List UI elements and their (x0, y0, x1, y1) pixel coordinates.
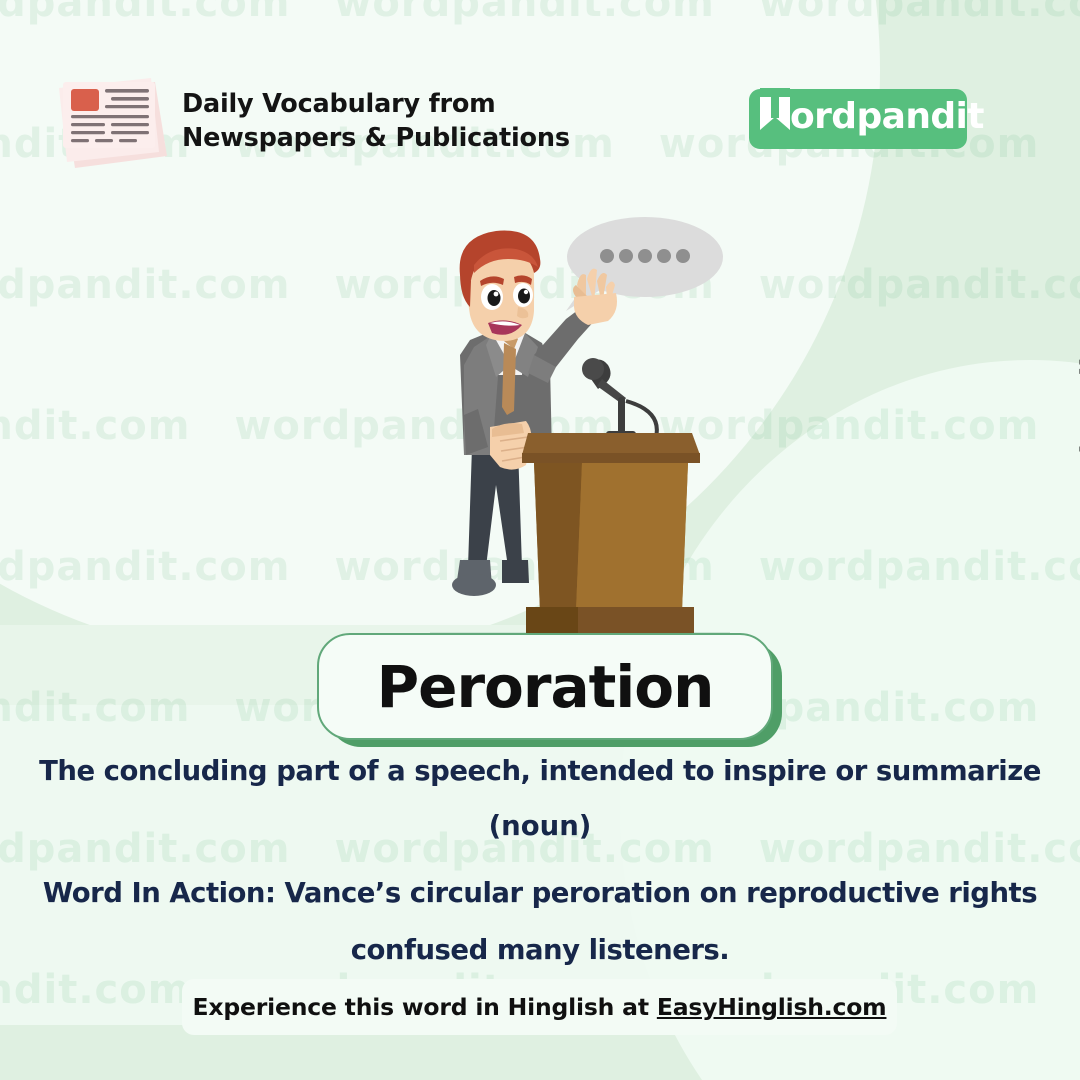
word-in-action-text: Word In Action: Vance’s circular perorat… (20, 865, 1060, 978)
bookmark-w-icon (756, 84, 794, 136)
word-title: Peroration (377, 653, 714, 721)
microphone-icon (582, 358, 657, 437)
hinglish-banner[interactable]: Experience this word in Hinglish at Easy… (182, 979, 897, 1035)
side-vertical-watermark: wordpandit.com (1074, 270, 1080, 522)
header-title: Daily Vocabulary from Newspapers & Publi… (182, 88, 612, 155)
hinglish-banner-text: Experience this word in Hinglish at Easy… (193, 993, 887, 1021)
definition-text: The concluding part of a speech, intende… (0, 755, 1080, 787)
part-of-speech: (noun) (0, 810, 1080, 842)
header-title-line2: Newspapers & Publications (182, 123, 570, 153)
speaker-head (460, 231, 541, 341)
podium-shape (522, 433, 700, 633)
man-speaking-at-podium-illustration (430, 215, 730, 640)
easyhinglish-link[interactable]: EasyHinglish.com (657, 993, 887, 1021)
usage-line-2: confused many listeners. (351, 934, 730, 966)
logo-text: ordpandit (790, 96, 984, 137)
hinglish-prefix: Experience this word in Hinglish at (193, 993, 657, 1021)
header: Daily Vocabulary from Newspapers & Publi… (0, 0, 1080, 190)
poster-canvas: wordpandit.comwordpandit.comwordpandit.c… (0, 0, 1080, 1080)
header-title-line1: Daily Vocabulary from (182, 89, 496, 119)
word-card: Peroration (317, 633, 773, 740)
newspaper-icon (55, 72, 175, 168)
usage-line-1: Word In Action: Vance’s circular perorat… (43, 877, 1037, 909)
